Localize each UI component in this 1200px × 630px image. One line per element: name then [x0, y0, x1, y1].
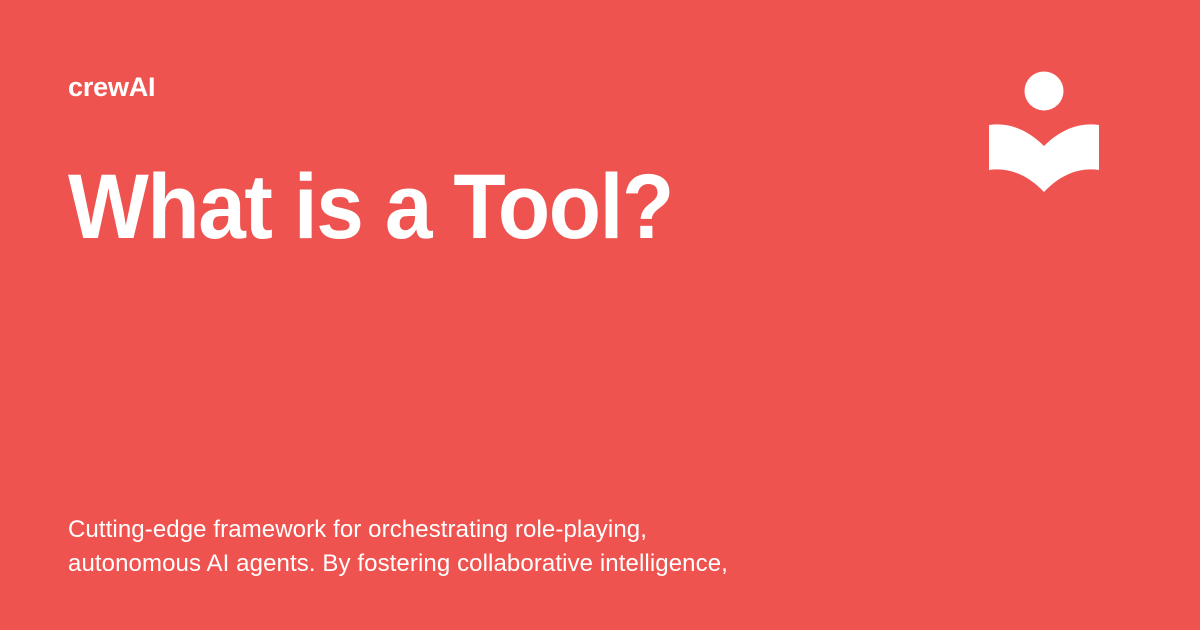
page-description: Cutting-edge framework for orchestrating… [68, 513, 968, 581]
page-title: What is a Tool? [68, 159, 868, 255]
page-description-line-2: autonomous AI agents. By fostering colla… [68, 547, 968, 581]
page-description-line-1: Cutting-edge framework for orchestrating… [68, 513, 968, 547]
brand-wordmark: crewAI [68, 70, 155, 104]
reader-book-icon [984, 66, 1104, 198]
og-preview-card: crewAI What is a Tool? Cutting-edge fram… [0, 0, 1200, 630]
